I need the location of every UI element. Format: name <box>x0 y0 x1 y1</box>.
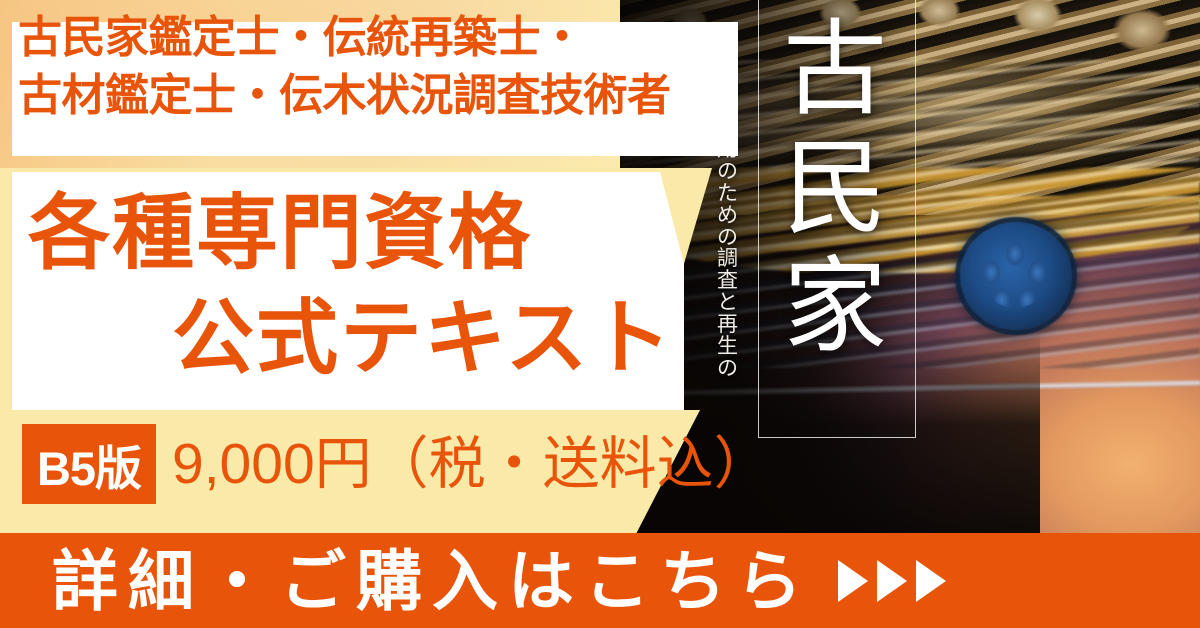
qualifications-line-1: 古民家鑑定士・伝統再築士・ <box>18 9 718 67</box>
arrow-right-icon <box>838 560 868 602</box>
promotional-banner[interactable]: 古 民 家 伝統構法、 古民家活用のための調査と再生の 古民家鑑定士・伝統再築士… <box>0 0 1200 628</box>
price-text: 9,000円（税・送料込） <box>172 426 771 502</box>
cta-arrows <box>838 560 946 602</box>
cta-label: 詳細・ご購入はこちら <box>52 548 812 614</box>
headline-line-2: 公式テキスト <box>20 287 700 392</box>
cover-title: 古 民 家 <box>770 10 902 366</box>
qualifications-text: 古民家鑑定士・伝統再築士・ 古材鑑定士・伝木状況調査技術者 <box>18 9 718 125</box>
arrow-right-icon <box>877 560 907 602</box>
cover-title-char-3: 家 <box>770 247 902 366</box>
format-badge: B5版 <box>22 424 156 504</box>
cta-bar[interactable]: 詳細・ご購入はこちら <box>0 533 1200 628</box>
headline-text: 各種専門資格 公式テキスト <box>20 182 700 392</box>
arrow-right-icon <box>916 560 946 602</box>
cover-title-char-1: 古 <box>770 10 902 129</box>
qualifications-line-2: 古材鑑定士・伝木状況調査技術者 <box>18 67 718 125</box>
headline-line-1: 各種専門資格 <box>20 182 700 287</box>
cover-title-char-2: 民 <box>770 129 902 248</box>
family-crest-icon <box>960 222 1072 330</box>
